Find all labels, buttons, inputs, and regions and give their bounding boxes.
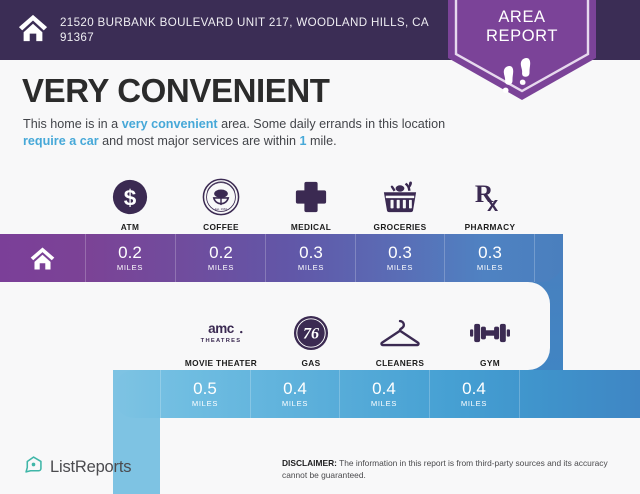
amenity-label: CLEANERS	[376, 358, 424, 368]
distance-cell-movie-theater: 0.5 MILES	[160, 370, 250, 418]
svg-text:x: x	[487, 194, 498, 215]
distance-unit: MILES	[371, 399, 397, 408]
page-description: This home is in a very convenient area. …	[23, 116, 453, 149]
amenity-label: GAS	[301, 358, 320, 368]
distance-value: 0.2	[118, 244, 142, 261]
amenity-label: COFFEE	[203, 222, 239, 232]
distance-cell-cleaners: 0.4 MILES	[339, 370, 429, 418]
atm-dollar-icon: $	[112, 177, 148, 217]
distance-value: 0.3	[388, 244, 412, 261]
desc-text-4: mile.	[307, 134, 337, 148]
svg-text:THEATRES: THEATRES	[201, 338, 242, 344]
amenity-label: GROCERIES	[374, 222, 427, 232]
hanger-icon	[378, 313, 422, 353]
coffee-bean-logo: Est. 1963	[202, 177, 240, 217]
distance-value: 0.3	[478, 244, 502, 261]
home-icon	[18, 13, 48, 48]
distance-cell-gas: 0.4 MILES	[250, 370, 340, 418]
page-title: VERY CONVENIENT	[22, 72, 330, 110]
dumbbell-icon	[470, 313, 510, 353]
badge-title: AREA REPORT	[448, 8, 596, 46]
distance-unit: MILES	[208, 263, 234, 272]
amenities-row-2-icons: amc THEATRES MOVIE THEATER 76 GAS	[0, 306, 640, 368]
badge-line-2: REPORT	[448, 27, 596, 46]
grocery-basket-icon	[381, 177, 419, 217]
amenity-label: ATM	[121, 222, 139, 232]
amenity-pharmacy: R x PHARMACY	[445, 170, 535, 232]
distance-value: 0.3	[299, 244, 323, 261]
amenity-label: GYM	[480, 358, 500, 368]
desc-highlight-2: require a car	[23, 134, 99, 148]
footer-white-card	[160, 418, 640, 494]
amenity-gas: 76 GAS	[266, 306, 356, 368]
rx-pharmacy-icon: R x	[472, 177, 508, 217]
amenity-atm: $ ATM	[85, 170, 175, 232]
amenity-medical: MEDICAL	[266, 170, 356, 232]
desc-text-1: This home is in a	[23, 117, 122, 131]
distance-cell-gym: 0.4 MILES	[429, 370, 519, 418]
distance-value: 0.4	[283, 380, 307, 397]
amc-theatres-logo: amc THEATRES	[194, 313, 248, 353]
distance-cell-atm: 0.2 MILES	[85, 234, 175, 282]
amenity-label: MEDICAL	[291, 222, 331, 232]
distance-cell-medical: 0.3 MILES	[266, 234, 356, 282]
76-gas-logo: 76	[293, 313, 329, 353]
badge-line-1: AREA	[448, 8, 596, 27]
distance-unit: MILES	[387, 263, 413, 272]
distance-unit: MILES	[282, 399, 308, 408]
desc-highlight-3: 1	[299, 134, 306, 148]
medical-cross-icon	[294, 177, 328, 217]
distance-unit: MILES	[477, 263, 503, 272]
listreports-house-tag-icon	[24, 455, 43, 479]
distance-value: 0.5	[193, 380, 217, 397]
desc-text-3: and most major services are within	[99, 134, 300, 148]
distance-bar-row-2: 0.5 MILES 0.4 MILES 0.4 MILES 0.4 MILES	[113, 370, 640, 418]
desc-highlight-1: very convenient	[122, 117, 218, 131]
amenity-label: MOVIE THEATER	[185, 358, 257, 368]
disclaimer-label: DISCLAIMER:	[282, 458, 337, 468]
distance-value: 0.2	[209, 244, 233, 261]
svg-text:amc: amc	[208, 321, 235, 336]
svg-text:76: 76	[303, 326, 320, 343]
area-report-badge: AREA REPORT	[448, 0, 596, 100]
desc-text-2: area. Some daily errands in this locatio…	[218, 117, 446, 131]
distance-cell-coffee: 0.2 MILES	[176, 234, 266, 282]
distance-unit: MILES	[192, 399, 218, 408]
listreports-wordmark: ListReports	[50, 458, 131, 477]
distance-value: 0.4	[462, 380, 486, 397]
property-address: 21520 BURBANK BOULEVARD UNIT 217, WOODLA…	[60, 15, 460, 45]
home-icon	[0, 234, 85, 282]
svg-text:$: $	[124, 186, 137, 211]
distance-unit: MILES	[461, 399, 487, 408]
amenity-coffee: Est. 1963 COFFEE	[176, 170, 266, 232]
area-report-page: 21520 BURBANK BOULEVARD UNIT 217, WOODLA…	[0, 0, 640, 494]
distance-cell-pharmacy: 0.3 MILES	[445, 234, 535, 282]
distance-unit: MILES	[117, 263, 143, 272]
listreports-logo[interactable]: ListReports	[24, 455, 131, 479]
amenity-cleaners: CLEANERS	[355, 306, 445, 368]
amenities-row-1-icons: $ ATM Est. 1963 COFFEE	[0, 170, 640, 232]
distance-value: 0.4	[372, 380, 396, 397]
amenity-label: PHARMACY	[465, 222, 516, 232]
distance-cell-groceries: 0.3 MILES	[355, 234, 445, 282]
svg-text:Est. 1963: Est. 1963	[215, 207, 227, 211]
amenity-groceries: GROCERIES	[355, 170, 445, 232]
disclaimer: DISCLAIMER: The information in this repo…	[282, 458, 612, 481]
amenity-movie-theater: amc THEATRES MOVIE THEATER	[176, 306, 266, 368]
distance-unit: MILES	[298, 263, 324, 272]
amenity-gym: GYM	[445, 306, 535, 368]
distance-bar-row-1: 0.2 MILES 0.2 MILES 0.3 MILES 0.3 MILES …	[0, 234, 563, 282]
